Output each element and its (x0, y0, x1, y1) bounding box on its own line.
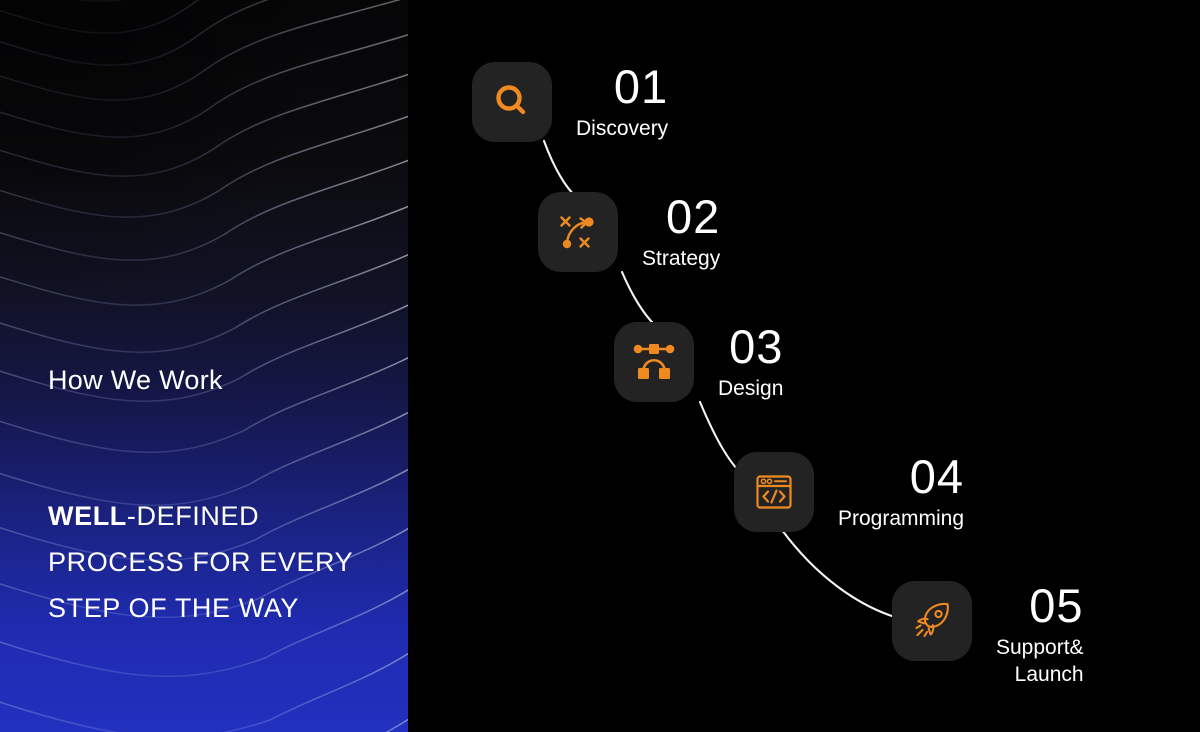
headline-line-1: WELL-DEFINED (48, 493, 408, 539)
step-label: Design (718, 376, 783, 403)
rocket-icon (909, 598, 955, 644)
connector-01-02 (544, 141, 578, 199)
step-icon-tile (472, 62, 552, 142)
step-number: 03 (729, 324, 783, 370)
process-step-04[interactable]: 04 Programming (734, 452, 964, 533)
step-icon-tile (538, 192, 618, 272)
step-text-block: 02 Strategy (642, 192, 720, 273)
eyebrow-heading: How We Work (48, 365, 223, 396)
slide-canvas: How We Work WELL-DEFINED PROCESS FOR EVE… (0, 0, 1200, 732)
step-text-block: 01 Discovery (576, 62, 668, 143)
headline-line-2: PROCESS FOR EVERY (48, 539, 408, 585)
step-number: 04 (910, 454, 964, 500)
step-number: 02 (666, 194, 720, 240)
process-step-01[interactable]: 01 Discovery (472, 62, 668, 143)
step-label: Programming (838, 506, 964, 533)
step-label: Support& Launch (996, 635, 1084, 689)
step-label: Discovery (576, 116, 668, 143)
step-icon-tile (614, 322, 694, 402)
process-step-03[interactable]: 03 Design (614, 322, 783, 403)
step-icon-tile (892, 581, 972, 661)
page-title: WELL-DEFINED PROCESS FOR EVERY STEP OF T… (48, 493, 408, 631)
left-panel: How We Work WELL-DEFINED PROCESS FOR EVE… (0, 0, 408, 732)
headline-light: -DEFINED (127, 501, 259, 531)
step-icon-tile (734, 452, 814, 532)
step-number: 05 (1029, 583, 1083, 629)
headline-strong: WELL (48, 501, 127, 531)
connector-04-05 (782, 530, 898, 618)
step-text-block: 05 Support& Launch (996, 581, 1084, 689)
process-steps-panel: 01 Discovery (408, 0, 1200, 732)
step-number: 01 (614, 64, 668, 110)
process-step-02[interactable]: 02 Strategy (538, 192, 720, 273)
step-label: Strategy (642, 246, 720, 273)
magnifier-icon (490, 80, 534, 124)
code-window-icon (752, 470, 796, 514)
process-step-05[interactable]: 05 Support& Launch (892, 581, 1084, 689)
step-text-block: 03 Design (718, 322, 783, 403)
step-text-block: 04 Programming (838, 452, 964, 533)
headline-line-3: STEP OF THE WAY (48, 585, 408, 631)
bezier-node-icon (630, 339, 678, 385)
left-panel-text: How We Work WELL-DEFINED PROCESS FOR EVE… (48, 0, 398, 732)
strategy-path-icon (555, 209, 601, 255)
